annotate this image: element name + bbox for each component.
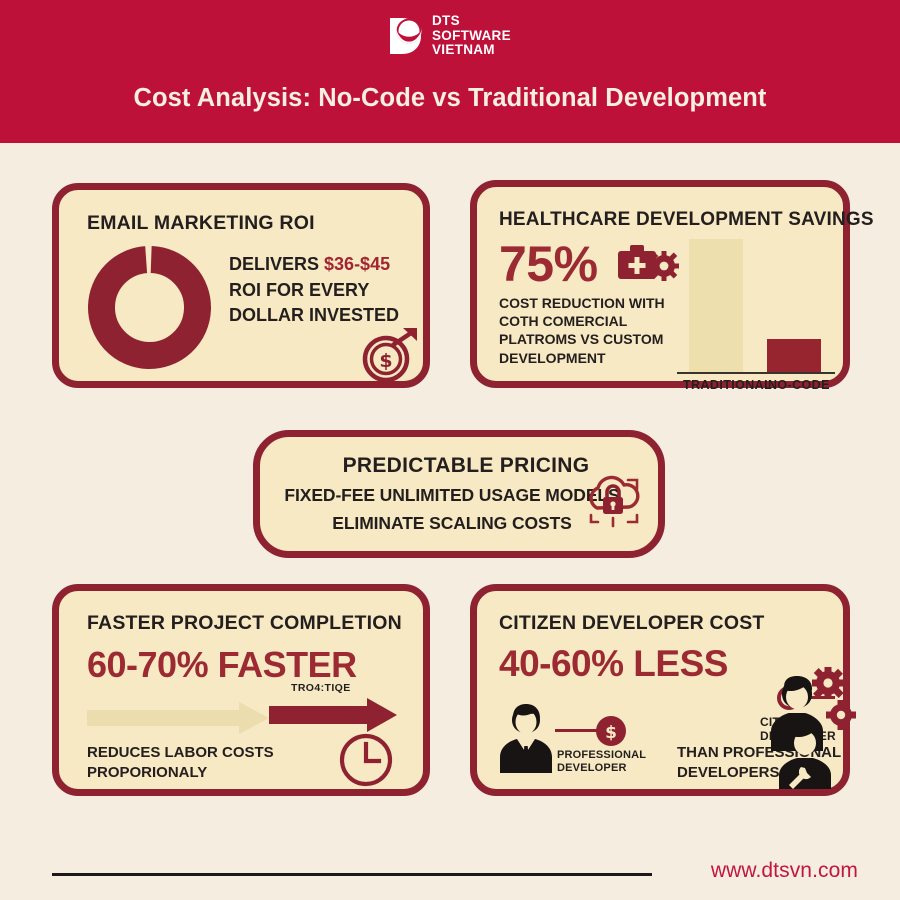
card-citizen-developer-cost: CITIZEN DEVELOPER COST 40-60% LESS $ PRO… [470,584,850,796]
professional-developer-icon [495,701,557,773]
card-email-statement-post: ROI FOR EVERY DOLLAR INVESTED [229,280,399,326]
card-healthcare-title: HEALTHCARE DEVELOPMENT SAVINGS [499,209,874,231]
card-healthcare-body-line-3: PLATROMS VS CUSTOM [499,330,665,348]
svg-text:$: $ [605,723,617,743]
clock-icon [337,731,395,789]
page-header: DTS SOFTWARE VIETNAM Cost Analysis: No-C… [0,0,900,143]
bar-traditional [689,239,743,372]
bar-chart-axis [677,372,835,374]
citizen-developer-icon [765,667,857,789]
card-faster-body-line-1: REDUCES LABOR COSTS [87,743,274,763]
dollar-badge-icon: $ [595,715,627,747]
card-email-marketing-roi: EMAIL MARKETING ROI DELIVERS $36-$45 ROI… [52,183,430,388]
cloud-lock-icon [582,470,644,532]
card-healthcare-stat: 75% [499,235,598,293]
card-faster-body: REDUCES LABOR COSTS PROPORIONALY [87,743,274,782]
card-healthcare-body-line-1: COST REDUCTION WITH [499,294,665,312]
card-citizen-title: CITIZEN DEVELOPER COST [499,612,765,635]
card-predictable-pricing: PREDICTABLE PRICING FIXED-FEE UNLIMITED … [253,430,665,558]
footer-website-url: www.dtsvn.com [711,859,858,883]
pro-developer-label-line-1: PROFESSIONAL [557,749,646,762]
arrow-right-dark-icon [269,698,397,732]
bar-label-no-code: NO-CODE [768,378,830,392]
card-faster-arrow-label: TRO4:TIQE [291,682,351,694]
card-email-statement-highlight: $36-$45 [324,254,390,274]
pro-connector-line [555,729,599,732]
card-faster-title: FASTER PROJECT COMPLETION [87,612,402,635]
card-email-statement-pre: DELIVERS [229,254,324,274]
svg-text:$: $ [379,350,392,372]
card-healthcare-savings: HEALTHCARE DEVELOPMENT SAVINGS 75% COST … [470,180,850,388]
card-faster-stat: 60-70% FASTER [87,644,357,686]
card-healthcare-body: COST REDUCTION WITH COTH COMERCIAL PLATR… [499,294,665,367]
brand-line-3: VIETNAM [432,43,511,58]
dts-logo-mark-icon [388,15,424,57]
card-healthcare-body-line-2: COTH COMERCIAL [499,312,665,330]
donut-chart-icon [87,245,212,370]
brand-logo: DTS SOFTWARE VIETNAM [388,14,511,58]
medical-kit-gear-icon [617,242,679,284]
pro-developer-label-line-2: DEVELOPER [557,762,646,775]
brand-line-2: SOFTWARE [432,29,511,44]
page-title: Cost Analysis: No-Code vs Traditional De… [0,84,900,113]
card-citizen-stat: 40-60% LESS [499,643,728,685]
brand-logo-text: DTS SOFTWARE VIETNAM [432,14,511,58]
bar-label-traditional: TRADITIONAL [683,378,772,392]
brand-line-1: DTS [432,14,511,29]
card-faster-completion: FASTER PROJECT COMPLETION 60-70% FASTER … [52,584,430,796]
card-email-statement: DELIVERS $36-$45 ROI FOR EVERY DOLLAR IN… [229,252,425,329]
card-faster-body-line-2: PROPORIONALY [87,763,274,783]
card-email-title: EMAIL MARKETING ROI [87,212,315,235]
arrow-right-light-icon [87,702,269,734]
footer-divider [52,873,652,876]
card-healthcare-body-line-4: DEVELOPMENT [499,349,665,367]
bar-no-code [767,339,821,372]
dollar-coin-growth-icon: $ [361,326,423,384]
pro-developer-label: PROFESSIONAL DEVELOPER [557,749,646,775]
